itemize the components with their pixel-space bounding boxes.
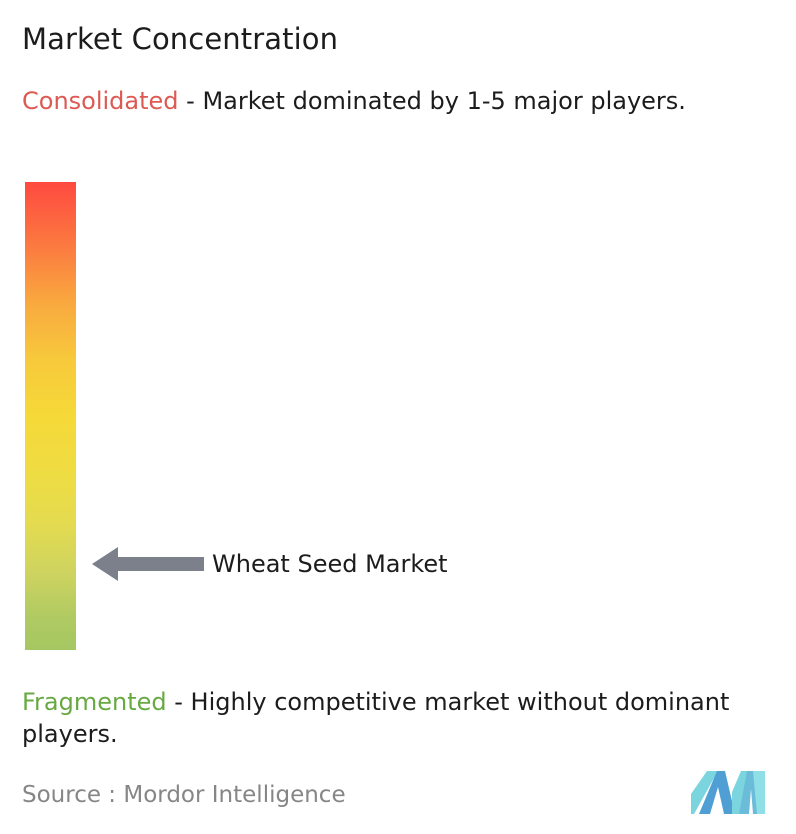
market-position-marker: Wheat Seed Market — [92, 544, 512, 584]
caption-consolidated: Consolidated - Market dominated by 1-5 m… — [22, 85, 774, 117]
caption-fragmented-keyword: Fragmented — [22, 688, 167, 716]
source-attribution: Source : Mordor Intelligence — [22, 780, 346, 810]
page-title: Market Concentration — [22, 21, 338, 57]
market-concentration-infographic: Market Concentration Consolidated - Mark… — [0, 0, 796, 834]
caption-fragmented: Fragmented - Highly competitive market w… — [22, 686, 787, 750]
concentration-gradient-bar — [25, 182, 76, 650]
market-position-label: Wheat Seed Market — [212, 548, 448, 580]
left-arrow-icon — [92, 544, 204, 584]
caption-consolidated-description: - Market dominated by 1-5 major players. — [179, 87, 686, 115]
caption-consolidated-keyword: Consolidated — [22, 87, 179, 115]
mordor-intelligence-logo — [691, 769, 765, 814]
